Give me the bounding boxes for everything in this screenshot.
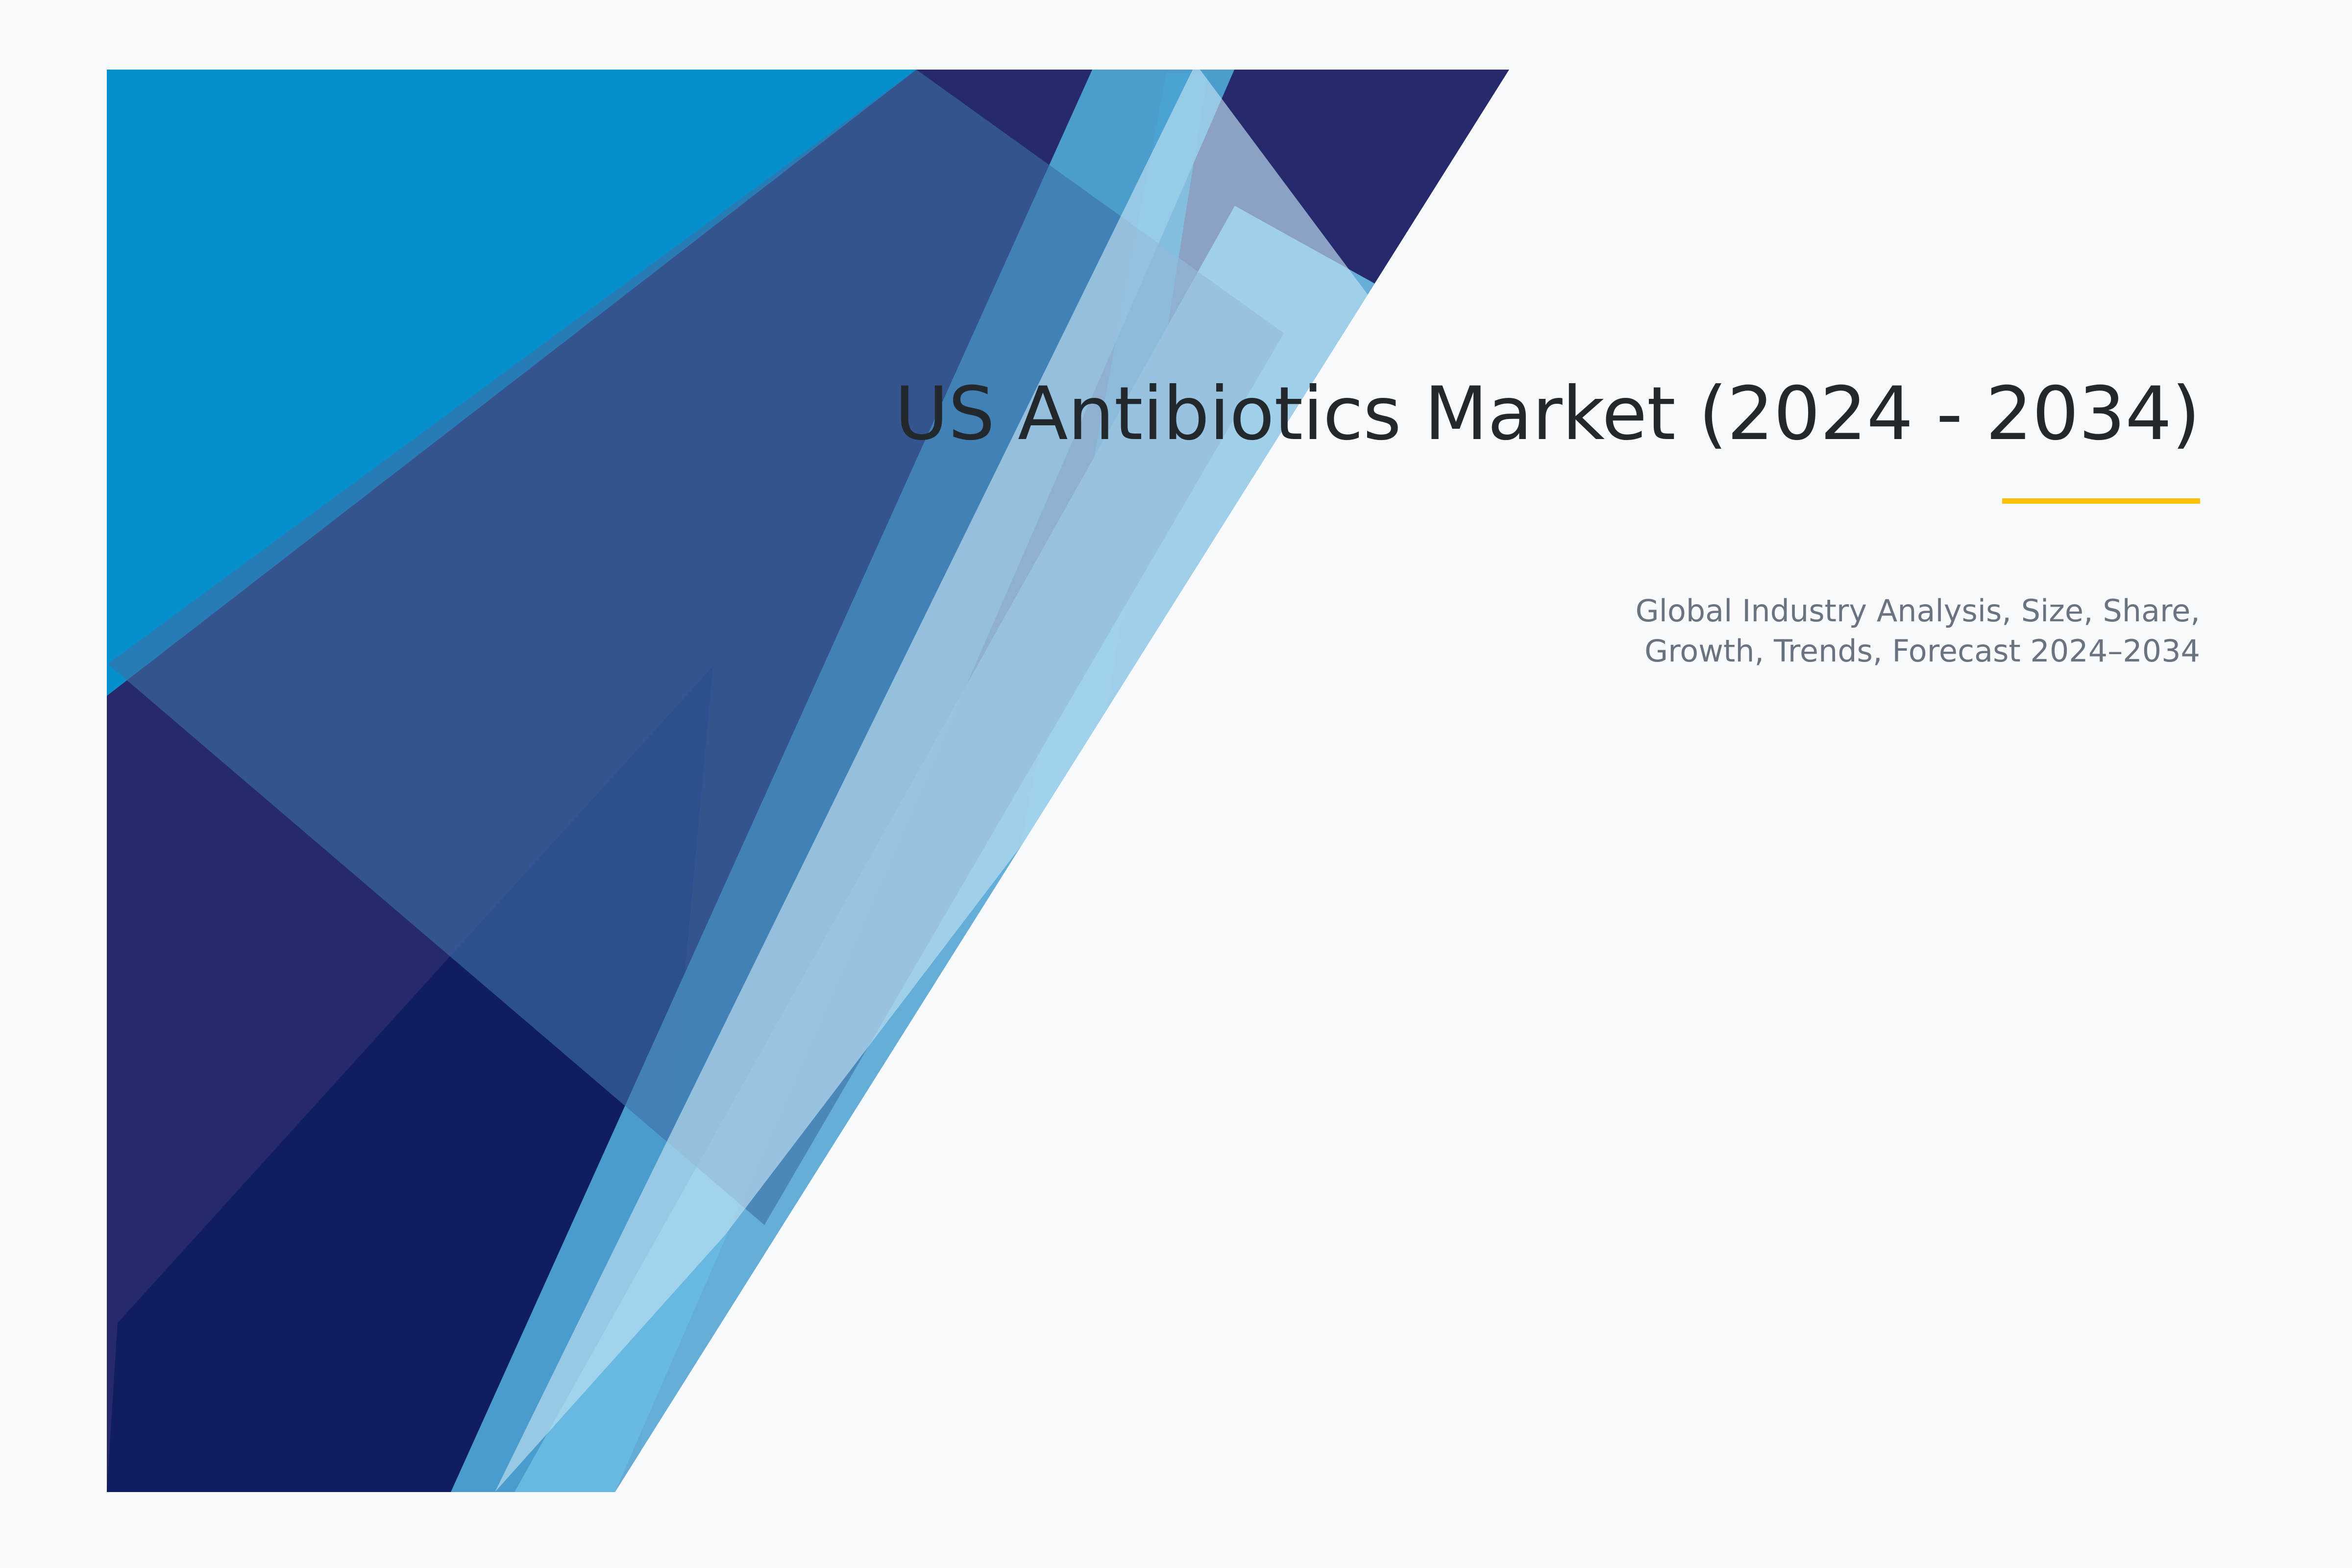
accent-rule-container xyxy=(833,498,2200,504)
page-subtitle: Global Industry Analysis, Size, Share, G… xyxy=(1563,591,2200,672)
report-cover-slide: US Antibiotics Market (2024 - 2034) Glob… xyxy=(0,0,2352,1568)
page-title: US Antibiotics Market (2024 - 2034) xyxy=(833,372,2200,456)
abstract-polygon-graphic xyxy=(0,0,2352,1568)
cover-text-block: US Antibiotics Market (2024 - 2034) Glob… xyxy=(833,372,2200,672)
gold-accent-rule xyxy=(2002,498,2200,504)
